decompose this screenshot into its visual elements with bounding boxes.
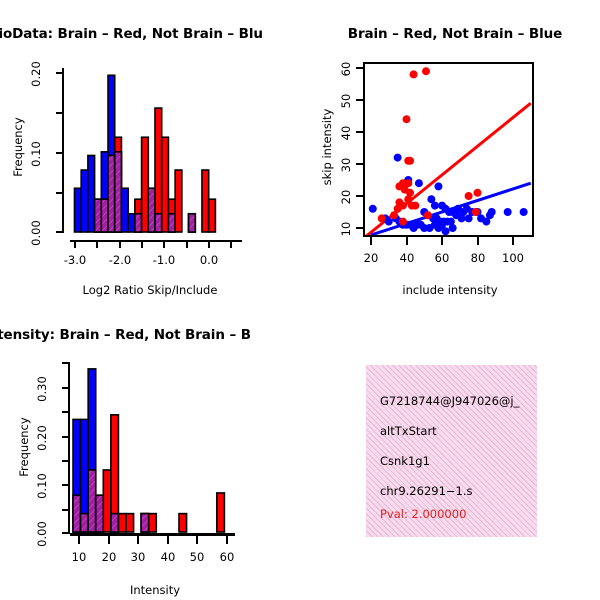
ratio-bar-overlap	[135, 214, 142, 232]
scatter-point	[438, 221, 446, 229]
intensity-bar-brain	[103, 470, 111, 532]
info-line-pval: Pval: 2.000000	[380, 507, 466, 521]
intensity-bar-brain	[217, 493, 225, 532]
scatter-point	[449, 224, 457, 232]
scatter-point	[406, 157, 414, 165]
scatter-plot-points	[300, 0, 600, 300]
scatter-point	[465, 192, 473, 200]
scatter-point	[472, 208, 480, 216]
intensity-bar-brain	[179, 514, 187, 532]
ratio-bar-notbrain	[121, 188, 128, 232]
scatter-point	[482, 218, 490, 226]
panel-ratio-histogram: atioData: Brain – Red, Not Brain – Blu F…	[0, 0, 300, 300]
scatter-point	[420, 224, 428, 232]
info-line-probe-id: G7218744@J947026@j_	[380, 394, 519, 408]
scatter-point	[390, 211, 398, 219]
ratio-bar-notbrain	[88, 155, 95, 232]
panel-intensity-histogram: ne Itensity: Brain – Red, Not Brain – B …	[0, 300, 300, 600]
scatter-point	[415, 179, 423, 187]
scatter-point	[488, 208, 496, 216]
scatter-point	[431, 221, 439, 229]
intensity-bar-brain	[126, 514, 134, 532]
intensity-bar-overlap	[96, 495, 104, 532]
scatter-point	[458, 214, 466, 222]
ratio-bar-notbrain	[81, 170, 88, 232]
ratio-bar-overlap	[115, 152, 122, 232]
ratio-bar-brain	[162, 137, 169, 232]
ratio-histogram-bars	[0, 0, 300, 300]
intensity-bar-brain	[149, 514, 157, 532]
intensity-bar-brain	[118, 514, 126, 532]
scatter-point	[431, 202, 439, 210]
info-line-gene-symbol: Csnk1g1	[380, 454, 430, 468]
scatter-point	[394, 154, 402, 162]
ratio-bar-overlap	[95, 199, 102, 232]
scatter-point	[411, 202, 419, 210]
scatter-point	[520, 208, 528, 216]
scatter-point	[504, 208, 512, 216]
scatter-point	[465, 214, 473, 222]
intensity-bar-overlap	[111, 514, 119, 532]
figure-canvas: atioData: Brain – Red, Not Brain – Blu F…	[0, 0, 600, 600]
intensity-bar-overlap	[73, 495, 81, 532]
info-panel-background: G7218744@J947026@j_ altTxStart Csnk1g1 c…	[366, 365, 537, 537]
ratio-bar-overlap	[101, 199, 108, 232]
ratio-bar-overlap	[148, 188, 155, 232]
ratio-bar-brain	[142, 137, 149, 232]
ratio-bar-notbrain	[128, 214, 135, 232]
scatter-point	[403, 115, 411, 123]
intensity-histogram-bars	[0, 300, 300, 600]
intensity-bar-overlap	[81, 514, 89, 532]
ratio-bar-notbrain	[74, 188, 81, 232]
ratio-bar-brain	[202, 170, 209, 232]
intensity-bar-overlap	[88, 470, 96, 532]
panel-scatter: Brain – Red, Not Brain – Blue skip inten…	[300, 0, 600, 300]
info-line-locus: chr9.26291−1.s	[380, 484, 473, 498]
scatter-point	[378, 214, 386, 222]
scatter-point	[424, 211, 432, 219]
scatter-point	[474, 189, 482, 197]
scatter-point	[399, 218, 407, 226]
ratio-bar-overlap	[108, 155, 115, 232]
intensity-bar-overlap	[141, 514, 149, 532]
ratio-bar-overlap	[168, 214, 175, 232]
ratio-bar-brain	[209, 199, 216, 232]
info-line-event-type: altTxStart	[380, 424, 437, 438]
ratio-bar-overlap	[189, 214, 196, 232]
scatter-point	[422, 67, 430, 75]
scatter-point	[434, 182, 442, 190]
ratio-bar-brain	[175, 170, 182, 232]
scatter-point	[369, 205, 377, 213]
panel-info: G7218744@J947026@j_ altTxStart Csnk1g1 c…	[300, 300, 600, 600]
ratio-bar-overlap	[155, 214, 162, 232]
scatter-point	[410, 70, 418, 78]
